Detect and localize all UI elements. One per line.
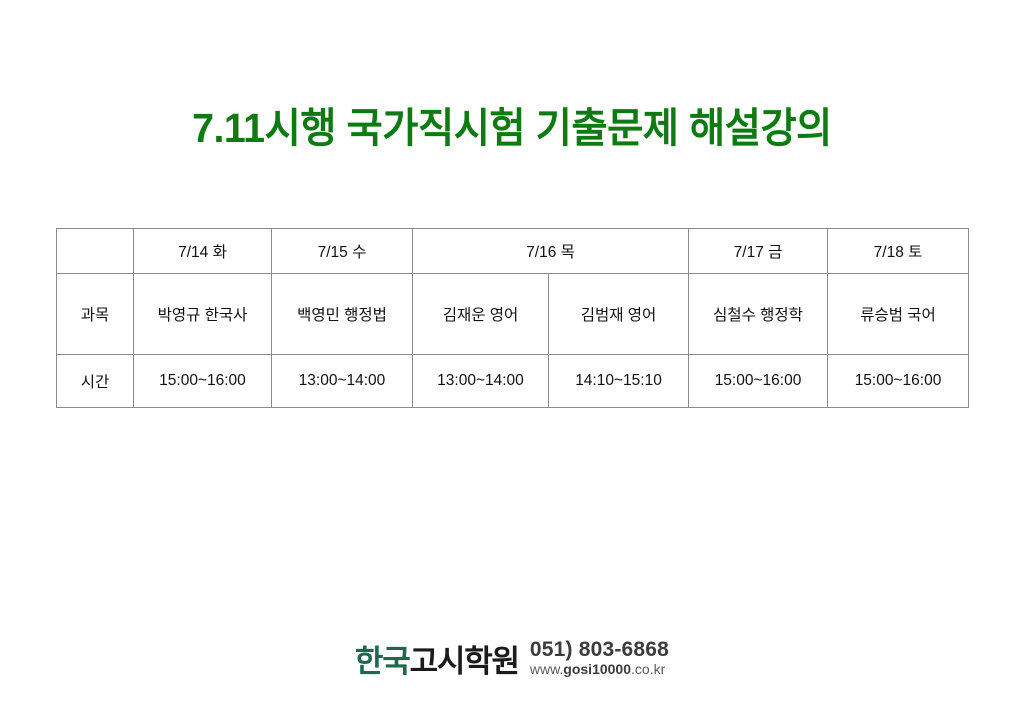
url-suffix: .co.kr: [631, 661, 665, 677]
website-url: www.gosi10000.co.kr: [530, 661, 669, 678]
table-row-subject: 과목 박영규 한국사 백영민 행정법 김재운 영어 김범재 영어 심철수 행정학…: [57, 274, 969, 355]
header-day-3: 7/17 금: [689, 229, 828, 274]
logo-text-dark: 고시학원: [410, 644, 519, 679]
row-label-subject: 과목: [57, 274, 134, 355]
header-day-2: 7/16 목: [413, 229, 689, 274]
url-domain: gosi10000: [563, 661, 631, 677]
time-cell-1: 13:00~14:00: [272, 355, 413, 408]
subject-cell-0: 박영규 한국사: [134, 274, 272, 355]
page-title: 7.11시행 국가직시험 기출문제 해설강의: [20, 104, 1003, 152]
subject-cell-2: 김재운 영어: [413, 274, 549, 355]
time-cell-2: 13:00~14:00: [413, 355, 549, 408]
subject-cell-1: 백영민 행정법: [272, 274, 413, 355]
time-cell-4: 15:00~16:00: [689, 355, 828, 408]
table-header-row: 7/14 화 7/15 수 7/16 목 7/17 금 7/18 토: [57, 229, 969, 274]
footer: 한국고시학원 051) 803-6868 www.gosi10000.co.kr: [0, 639, 1024, 679]
contact-block: 051) 803-6868 www.gosi10000.co.kr: [530, 639, 669, 679]
academy-logo: 한국고시학원: [355, 645, 519, 679]
subject-cell-4: 심철수 행정학: [689, 274, 828, 355]
header-day-0: 7/14 화: [134, 229, 272, 274]
subject-cell-5: 류승범 국어: [828, 274, 969, 355]
table-row-time: 시간 15:00~16:00 13:00~14:00 13:00~14:00 1…: [57, 355, 969, 408]
url-prefix: www.: [530, 661, 563, 677]
logo-text-green: 한국: [355, 644, 410, 679]
subject-cell-3: 김범재 영어: [549, 274, 689, 355]
phone-number: 051) 803-6868: [530, 639, 669, 661]
schedule-table-container: 7/14 화 7/15 수 7/16 목 7/17 금 7/18 토 과목 박영…: [56, 228, 968, 408]
header-day-4: 7/18 토: [828, 229, 969, 274]
row-label-time: 시간: [57, 355, 134, 408]
schedule-table: 7/14 화 7/15 수 7/16 목 7/17 금 7/18 토 과목 박영…: [56, 228, 969, 408]
time-cell-3: 14:10~15:10: [549, 355, 689, 408]
header-corner-cell: [57, 229, 134, 274]
time-cell-5: 15:00~16:00: [828, 355, 969, 408]
time-cell-0: 15:00~16:00: [134, 355, 272, 408]
header-day-1: 7/15 수: [272, 229, 413, 274]
poster-page: 7.11시행 국가직시험 기출문제 해설강의 7/14 화 7/15 수 7/1…: [0, 0, 1024, 724]
